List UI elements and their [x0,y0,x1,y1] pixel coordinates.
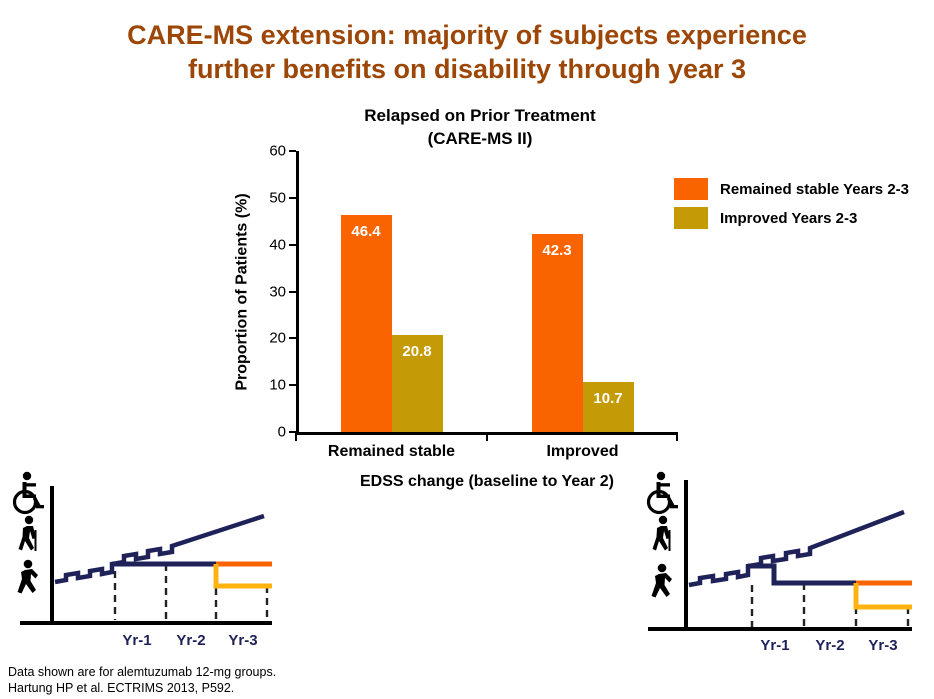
chart-title-line-1: Relapsed on Prior Treatment [300,104,660,127]
chart-title-line-2: (CARE-MS II) [300,127,660,150]
page-title: CARE-MS extension: majority of subjects … [0,18,934,86]
y-axis-tick [289,150,296,152]
slide-canvas: CARE-MS extension: majority of subjects … [0,0,934,699]
page-title-line-1: CARE-MS extension: majority of subjects … [0,18,934,52]
progression-line [689,512,904,585]
x-axis-title: EDSS change (baseline to Year 2) [296,473,678,491]
y-axis-tick [289,384,296,386]
diagram-label-yr3: Yr-3 [868,637,897,653]
diagram-label-yr2: Yr-2 [176,632,205,649]
y-axis-tick [289,197,296,199]
edss-diagram-right: Yr-1 Yr-2 Yr-3 [634,468,934,653]
walking-person-icon [18,560,39,594]
y-axis-tick-label: 60 [269,143,286,160]
legend-label: Improved Years 2-3 [720,210,857,227]
diagram-label-yr1: Yr-1 [760,637,789,653]
chart-bar[interactable]: 10.7 [583,382,634,432]
wheelchair-icon [649,472,679,513]
person-with-cane-icon [653,516,671,551]
y-axis-tick [289,291,296,293]
improvement-step-line [748,566,856,583]
chart-bar[interactable]: 20.8 [392,335,443,432]
x-axis-category-label: Improved [487,443,678,461]
progression-line [55,516,264,582]
page-title-line-2: further benefits on disability through y… [0,52,934,86]
bar-value-label: 10.7 [583,390,634,407]
legend-item[interactable]: Remained stable Years 2-3 [674,178,909,200]
improved-line [216,564,272,586]
y-axis-tick [289,244,296,246]
bar-chart: Relapsed on Prior Treatment (CARE-MS II)… [0,100,934,500]
footer-line-1: Data shown are for alemtuzumab 12-mg gro… [8,664,276,680]
plot-area: 010203040506046.420.8Remained stable42.3… [296,151,678,432]
bar-value-label: 20.8 [392,343,443,360]
wheelchair-icon [15,472,45,513]
person-with-cane-icon [19,516,37,551]
y-axis-tick-label: 40 [269,236,286,253]
x-axis-tick [486,432,488,441]
legend-label: Remained stable Years 2-3 [720,181,909,198]
walking-person-icon [652,564,673,598]
footer-line-2: Hartung HP et al. ECTRIMS 2013, P592. [8,680,276,696]
chart-title: Relapsed on Prior Treatment (CARE-MS II) [300,104,660,150]
x-axis-tick [676,432,678,441]
y-axis-tick-label: 30 [269,283,286,300]
diagram-label-yr1: Yr-1 [122,632,151,649]
legend-swatch [674,207,708,229]
y-axis-tick-label: 50 [269,189,286,206]
improved-line [856,583,912,607]
diagram-label-yr3: Yr-3 [228,632,257,649]
y-axis-line [296,151,299,432]
x-axis-category-label: Remained stable [296,443,487,461]
y-axis-title: Proportion of Patients (%) [232,151,254,432]
y-axis-title-text: Proportion of Patients (%) [234,193,252,390]
x-axis-tick [295,432,297,441]
bar-value-label: 42.3 [532,242,583,259]
y-axis-tick-label: 0 [278,424,286,441]
diagram-label-yr2: Yr-2 [815,637,844,653]
y-axis-tick-label: 10 [269,377,286,394]
bar-value-label: 46.4 [341,223,392,240]
y-axis-tick [289,337,296,339]
legend-swatch [674,178,708,200]
chart-legend: Remained stable Years 2-3Improved Years … [674,178,909,236]
legend-item[interactable]: Improved Years 2-3 [674,207,909,229]
edss-diagram-left: Yr-1 Yr-2 Yr-3 [0,468,300,653]
y-axis-tick-label: 20 [269,330,286,347]
chart-bar[interactable]: 46.4 [341,215,392,432]
chart-bar[interactable]: 42.3 [532,234,583,432]
footer-citation: Data shown are for alemtuzumab 12-mg gro… [8,664,276,696]
